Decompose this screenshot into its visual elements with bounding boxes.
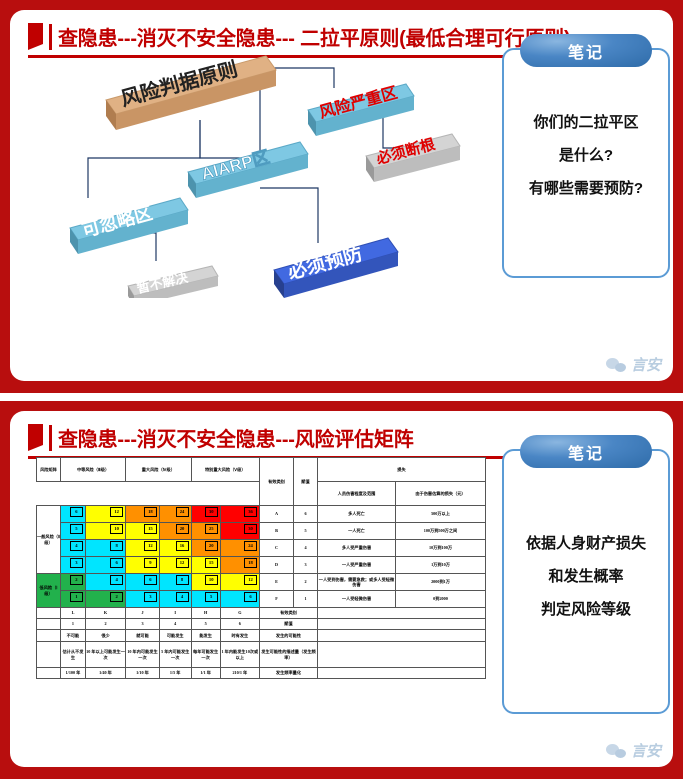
severity-value: 1 — [294, 591, 318, 608]
severity-value: 4 — [294, 540, 318, 557]
slide-2-card: 查隐患---消灭不安全隐患---风险评估矩阵 风险评估矩阵表 风险矩阵中等风险（… — [10, 411, 673, 767]
matrix-cell: 2 — [85, 591, 125, 608]
flag-icon — [28, 23, 43, 50]
matrix-cell: 16 — [159, 540, 191, 557]
matrix-cell: 25 — [191, 523, 220, 540]
matrix-cell: 6 — [61, 506, 86, 523]
notes-line: 和发生概率 — [514, 560, 658, 593]
matrix-header-row: 风险矩阵中等风险（Ⅲ级）重大风险（Ⅳ级）特别重大风险（Ⅴ级）有效类别赋值损失 — [37, 458, 486, 482]
matrix-cell: 2 — [61, 574, 86, 591]
severity-loss: 1万到10万 — [396, 557, 486, 574]
matrix-cell: 18 — [126, 506, 160, 523]
notes-title-1: 笔记 — [520, 34, 652, 67]
slide-divider — [0, 393, 683, 401]
likelihood-value: 1 — [61, 619, 86, 630]
likelihood-desc: 很少 — [85, 630, 125, 642]
likelihood-desc: 时有发生 — [220, 630, 259, 642]
likelihood-freq: 1/5 年 — [159, 668, 191, 679]
matrix-col-head: 重大风险（Ⅳ级） — [126, 458, 191, 482]
table-row: 一般风险（Ⅱ级）61218243036A6多人死亡500万以上 — [37, 506, 486, 523]
severity-loss: 10万到100万 — [396, 540, 486, 557]
matrix-cell: 15 — [191, 557, 220, 574]
likelihood-value: 2 — [85, 619, 125, 630]
matrix-cell: 15 — [126, 523, 160, 540]
page-title-2: 查隐患---消灭不安全隐患---风险评估矩阵 — [58, 423, 414, 452]
matrix-cell: 12 — [126, 540, 160, 557]
matrix-cell: 20 — [159, 523, 191, 540]
slide-2: 查隐患---消灭不安全隐患---风险评估矩阵 风险评估矩阵表 风险矩阵中等风险（… — [0, 401, 683, 779]
likelihood-freq: 1/10 年 — [126, 668, 160, 679]
risk-matrix-table: 风险矩阵中等风险（Ⅲ级）重大风险（Ⅳ级）特别重大风险（Ⅴ级）有效类别赋值损失人员… — [36, 457, 486, 679]
matrix-cell: 30 — [220, 523, 259, 540]
likelihood-detail-row: 估计从不发生10 年以上可能发生一次10 年内可能发生一次5 年内可能发生一次每… — [37, 642, 486, 668]
severity-code: B — [260, 523, 294, 540]
notes-title-2: 笔记 — [520, 435, 652, 468]
notes-line: 判定风险等级 — [514, 593, 658, 626]
connector-root-ignore — [88, 120, 200, 198]
matrix-col-head: 人员伤害程度及范围 — [318, 482, 396, 506]
likelihood-desc: 就可能 — [126, 630, 160, 642]
matrix-cell: 10 — [85, 523, 125, 540]
severity-value: 5 — [294, 523, 318, 540]
severity-code: D — [260, 557, 294, 574]
matrix-cell: 20 — [191, 540, 220, 557]
severity-value: 6 — [294, 506, 318, 523]
likelihood-detail: 10 年内可能发生一次 — [126, 642, 160, 668]
matrix-cell: 8 — [159, 574, 191, 591]
likelihood-letter-row: LKJIHG有效类别 — [37, 608, 486, 619]
matrix-cell: 24 — [220, 540, 259, 557]
matrix-cell: 4 — [61, 540, 86, 557]
notes-body-2: 依据人身财产损失 和发生概率 判定风险等级 — [504, 451, 668, 636]
title-divider — [49, 425, 52, 451]
likelihood-desc: 可能发生 — [159, 630, 191, 642]
notes-line: 有哪些需要预防? — [514, 172, 658, 205]
severity-code: C — [260, 540, 294, 557]
likelihood-letter: J — [126, 608, 160, 619]
matrix-cell: 6 — [85, 557, 125, 574]
notes-panel-1: 笔记 你们的二拉平区 是什么? 有哪些需要预防? — [502, 48, 670, 278]
node-severe-risk: 风险严重区 — [308, 83, 414, 136]
likelihood-value-head: 赋值 — [260, 619, 318, 630]
likelihood-detail: 1 年内能发生10次或以上 — [220, 642, 259, 668]
node-postpone: 暂不解决 — [128, 266, 218, 298]
wechat-icon — [606, 743, 628, 759]
matrix-cell: 12 — [220, 574, 259, 591]
flag-icon — [28, 424, 43, 451]
likelihood-detail: 5 年内可能发生一次 — [159, 642, 191, 668]
likelihood-freq: 1/100 年 — [61, 668, 86, 679]
matrix-cell: 6 — [220, 591, 259, 608]
page-title: 查隐患---消灭不安全隐患--- 二拉平原则(最低合理可行原则) — [58, 22, 570, 51]
matrix-col-head: 特别重大风险（Ⅴ级） — [191, 458, 259, 482]
likelihood-desc-head: 发生的可能性 — [260, 630, 318, 642]
node-root: 风险判据原则 — [106, 56, 276, 130]
matrix-cell: 9 — [126, 557, 160, 574]
wechat-icon — [606, 357, 628, 373]
likelihood-letter: K — [85, 608, 125, 619]
severity-value: 2 — [294, 574, 318, 591]
node-alarp: AIARP区 — [188, 142, 308, 198]
table-row: 123456F1一人受轻微伤害0到2000 — [37, 591, 486, 608]
likelihood-detail: 每年可能发生一次 — [191, 642, 220, 668]
likelihood-value: 4 — [159, 619, 191, 630]
matrix-cell: 12 — [85, 506, 125, 523]
severity-people: 一人死亡 — [318, 523, 396, 540]
notes-line: 是什么? — [514, 139, 658, 172]
matrix-cell: 12 — [159, 557, 191, 574]
likelihood-desc: 不可能 — [61, 630, 86, 642]
notes-panel-2: 笔记 依据人身财产损失 和发生概率 判定风险等级 — [502, 449, 670, 714]
likelihood-freq: 1/40 年 — [85, 668, 125, 679]
severity-loss: 500万以上 — [396, 506, 486, 523]
matrix-col-head: 由于伤害估算的损失（元） — [396, 482, 486, 506]
matrix-cell: 18 — [220, 557, 259, 574]
likelihood-detail: 10 年以上可能发生一次 — [85, 642, 125, 668]
likelihood-letter: L — [61, 608, 86, 619]
matrix-cell: 24 — [159, 506, 191, 523]
likelihood-freq-head: 发生频率量化 — [260, 668, 318, 679]
matrix-cell: 5 — [191, 591, 220, 608]
watermark-label: 言安 — [631, 740, 661, 761]
likelihood-detail: 估计从不发生 — [61, 642, 86, 668]
severity-people: 多人受严重伤害 — [318, 540, 396, 557]
table-row: 51015202530B5一人死亡100万到500万之间 — [37, 523, 486, 540]
node-must-eradicate: 必须断根 — [366, 134, 460, 182]
severity-loss: 100万到500万之间 — [396, 523, 486, 540]
likelihood-letter: G — [220, 608, 259, 619]
matrix-cell: 3 — [61, 557, 86, 574]
matrix-row-group: 低风险（Ⅰ级） — [37, 574, 61, 608]
likelihood-letter: H — [191, 608, 220, 619]
matrix-cell: 4 — [85, 574, 125, 591]
likelihood-freq: 210/1 年 — [220, 668, 259, 679]
severity-value: 3 — [294, 557, 318, 574]
matrix-row-group: 一般风险（Ⅱ级） — [37, 506, 61, 574]
likelihood-desc: 能发生 — [191, 630, 220, 642]
likelihood-value: 3 — [126, 619, 160, 630]
matrix-col-head: 中等风险（Ⅲ级） — [61, 458, 126, 482]
matrix-cell: 8 — [85, 540, 125, 557]
table-row: 369121518D3一人受严重伤害1万到10万 — [37, 557, 486, 574]
node-negligible: 可忽略区 — [70, 198, 188, 254]
severity-code: E — [260, 574, 294, 591]
likelihood-letter: I — [159, 608, 191, 619]
likelihood-value-row: 123456赋值 — [37, 619, 486, 630]
watermark-label: 言安 — [631, 354, 661, 375]
likelihood-value: 5 — [191, 619, 220, 630]
matrix-cell: 30 — [191, 506, 220, 523]
matrix-cell: 6 — [126, 574, 160, 591]
matrix-cell: 4 — [159, 591, 191, 608]
notes-line: 依据人身财产损失 — [514, 527, 658, 560]
likelihood-detail-head: 发生可能性的描述量（发生频率） — [260, 642, 318, 668]
matrix-cell: 3 — [126, 591, 160, 608]
watermark-2: 言安 — [606, 740, 661, 761]
watermark-1: 言安 — [606, 354, 661, 375]
likelihood-freq-row: 1/100 年1/40 年1/10 年1/5 年1/1 年210/1 年发生频率… — [37, 668, 486, 679]
matrix-col-head: 赋值 — [294, 458, 318, 506]
notes-line: 你们的二拉平区 — [514, 106, 658, 139]
likelihood-desc-row: 不可能很少就可能可能发生能发生时有发生发生的可能性 — [37, 630, 486, 642]
likelihood-head: 有效类别 — [260, 608, 318, 619]
severity-code: F — [260, 591, 294, 608]
connector-alarp-prevent — [260, 188, 318, 243]
severity-people: 一人受到伤害，需要急救；或多人受轻微伤害 — [318, 574, 396, 591]
likelihood-freq: 1/1 年 — [191, 668, 220, 679]
severity-people: 一人受严重伤害 — [318, 557, 396, 574]
severity-people: 一人受轻微伤害 — [318, 591, 396, 608]
risk-criteria-diagram: .cn { font-family:"Liberation Sans", san… — [28, 48, 488, 298]
table-row: 低风险（Ⅰ级）24681012E2一人受到伤害，需要急救；或多人受轻微伤害200… — [37, 574, 486, 591]
severity-people: 多人死亡 — [318, 506, 396, 523]
matrix-cell: 10 — [191, 574, 220, 591]
severity-loss: 2000到1万 — [396, 574, 486, 591]
matrix-cell: 1 — [61, 591, 86, 608]
severity-code: A — [260, 506, 294, 523]
matrix-cell: 5 — [61, 523, 86, 540]
notes-body-1: 你们的二拉平区 是什么? 有哪些需要预防? — [504, 50, 668, 215]
matrix-cell: 36 — [220, 506, 259, 523]
matrix-col-head: 损失 — [318, 458, 486, 482]
slide-1: 查隐患---消灭不安全隐患--- 二拉平原则(最低合理可行原则) .cn { f… — [0, 0, 683, 393]
likelihood-value: 6 — [220, 619, 259, 630]
severity-loss: 0到2000 — [396, 591, 486, 608]
table-row: 4812162024C4多人受严重伤害10万到100万 — [37, 540, 486, 557]
slide-1-card: 查隐患---消灭不安全隐患--- 二拉平原则(最低合理可行原则) .cn { f… — [10, 10, 673, 381]
title-divider — [49, 24, 52, 50]
node-must-prevent: 必须预防 — [274, 238, 398, 298]
matrix-col-head: 风险矩阵 — [37, 458, 61, 482]
matrix-col-head: 有效类别 — [260, 458, 294, 506]
